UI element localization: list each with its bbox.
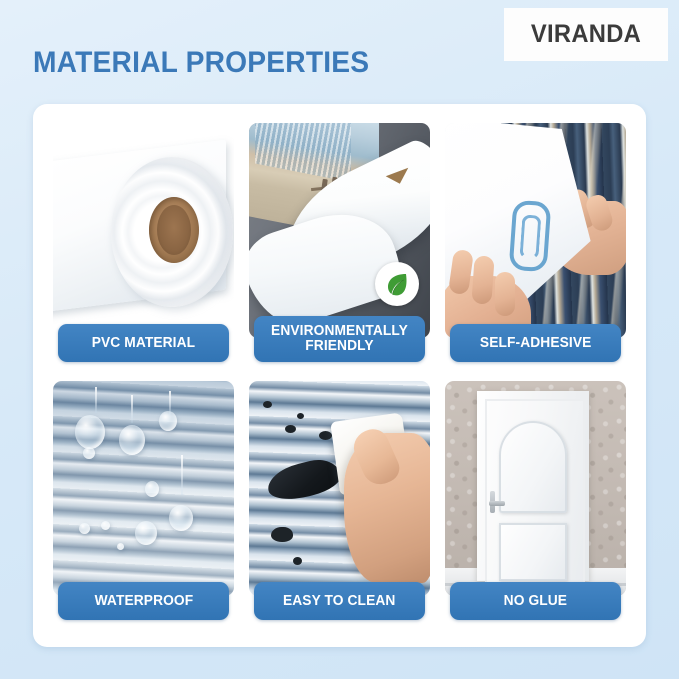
brand-name: VIRANDA: [531, 20, 641, 49]
page-title: MATERIAL PROPERTIES: [33, 46, 369, 80]
waterproof-image: [53, 381, 234, 596]
feature-label-text: SELF-ADHESIVE: [477, 331, 594, 356]
eco-wallpaper-image: [249, 123, 430, 338]
feature-card-easy-to-clean[interactable]: EASY TO CLEAN: [249, 381, 430, 620]
feature-card-pvc-material[interactable]: PVC MATERIAL: [53, 123, 234, 362]
feature-label-no-glue: NO GLUE: [450, 582, 621, 620]
feature-label-easy-to-clean: EASY TO CLEAN: [254, 582, 425, 620]
feature-card-no-glue[interactable]: NO GLUE: [445, 381, 626, 620]
feature-label-text: EASY TO CLEAN: [280, 589, 398, 614]
feature-label-text: NO GLUE: [501, 589, 570, 614]
feature-label-text: WATERPROOF: [91, 589, 195, 614]
feature-card-waterproof[interactable]: WATERPROOF: [53, 381, 234, 620]
easy-to-clean-image: [249, 381, 430, 596]
pvc-roll-image: [53, 123, 234, 338]
brand-logo-box: VIRANDA: [504, 8, 668, 61]
eco-badge: [375, 262, 419, 306]
features-grid: PVC MATERIAL: [53, 123, 626, 620]
no-glue-door-image: [445, 381, 626, 596]
feature-label-pvc-material: PVC MATERIAL: [58, 324, 229, 362]
paperclip-icon: [509, 200, 552, 272]
feature-label-text: PVC MATERIAL: [89, 331, 198, 356]
feature-label-text: ENVIRONMENTALLY FRIENDLY: [258, 319, 420, 359]
feature-label-environmentally-friendly: ENVIRONMENTALLY FRIENDLY: [254, 316, 425, 362]
self-adhesive-image: [445, 123, 626, 338]
feature-card-environmentally-friendly[interactable]: ENVIRONMENTALLY FRIENDLY: [249, 123, 430, 362]
green-leaf-icon: [383, 270, 411, 298]
feature-card-self-adhesive[interactable]: SELF-ADHESIVE: [445, 123, 626, 362]
feature-label-self-adhesive: SELF-ADHESIVE: [450, 324, 621, 362]
feature-label-waterproof: WATERPROOF: [58, 582, 229, 620]
features-panel: PVC MATERIAL: [33, 104, 646, 647]
